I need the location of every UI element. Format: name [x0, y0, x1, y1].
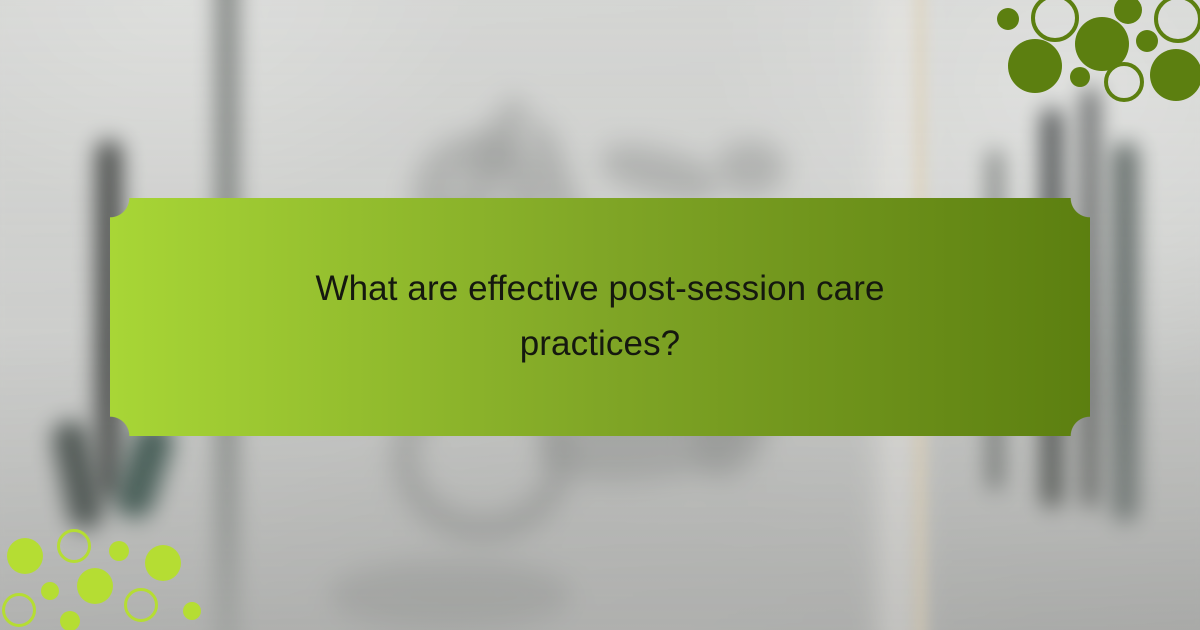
headline-banner: What are effective post-session care pra… — [110, 198, 1090, 436]
decorative-circle — [41, 582, 59, 600]
decorative-circle — [1136, 30, 1158, 52]
share-card: What are effective post-session care pra… — [0, 0, 1200, 630]
decorative-circle — [7, 538, 43, 574]
decorative-circle — [1154, 0, 1200, 43]
decorative-circle — [1114, 0, 1142, 24]
decorative-circle — [109, 541, 129, 561]
decorative-circle — [1070, 67, 1090, 87]
decorative-circle — [1150, 49, 1200, 101]
decorative-circle — [124, 588, 158, 622]
decorative-circle — [145, 545, 181, 581]
decorative-circle — [183, 602, 201, 620]
decorative-circle — [77, 568, 113, 604]
page-title: What are effective post-session care pra… — [280, 262, 920, 371]
decorative-circle — [1104, 62, 1144, 102]
dot-cluster-top-right — [990, 0, 1200, 110]
decorative-circle — [997, 8, 1019, 30]
decorative-circle — [1031, 0, 1079, 42]
decorative-circle — [60, 611, 80, 630]
dot-cluster-bottom-left — [0, 518, 230, 630]
decorative-circle — [2, 593, 36, 627]
decorative-circle — [1008, 39, 1062, 93]
decorative-circle — [57, 529, 91, 563]
